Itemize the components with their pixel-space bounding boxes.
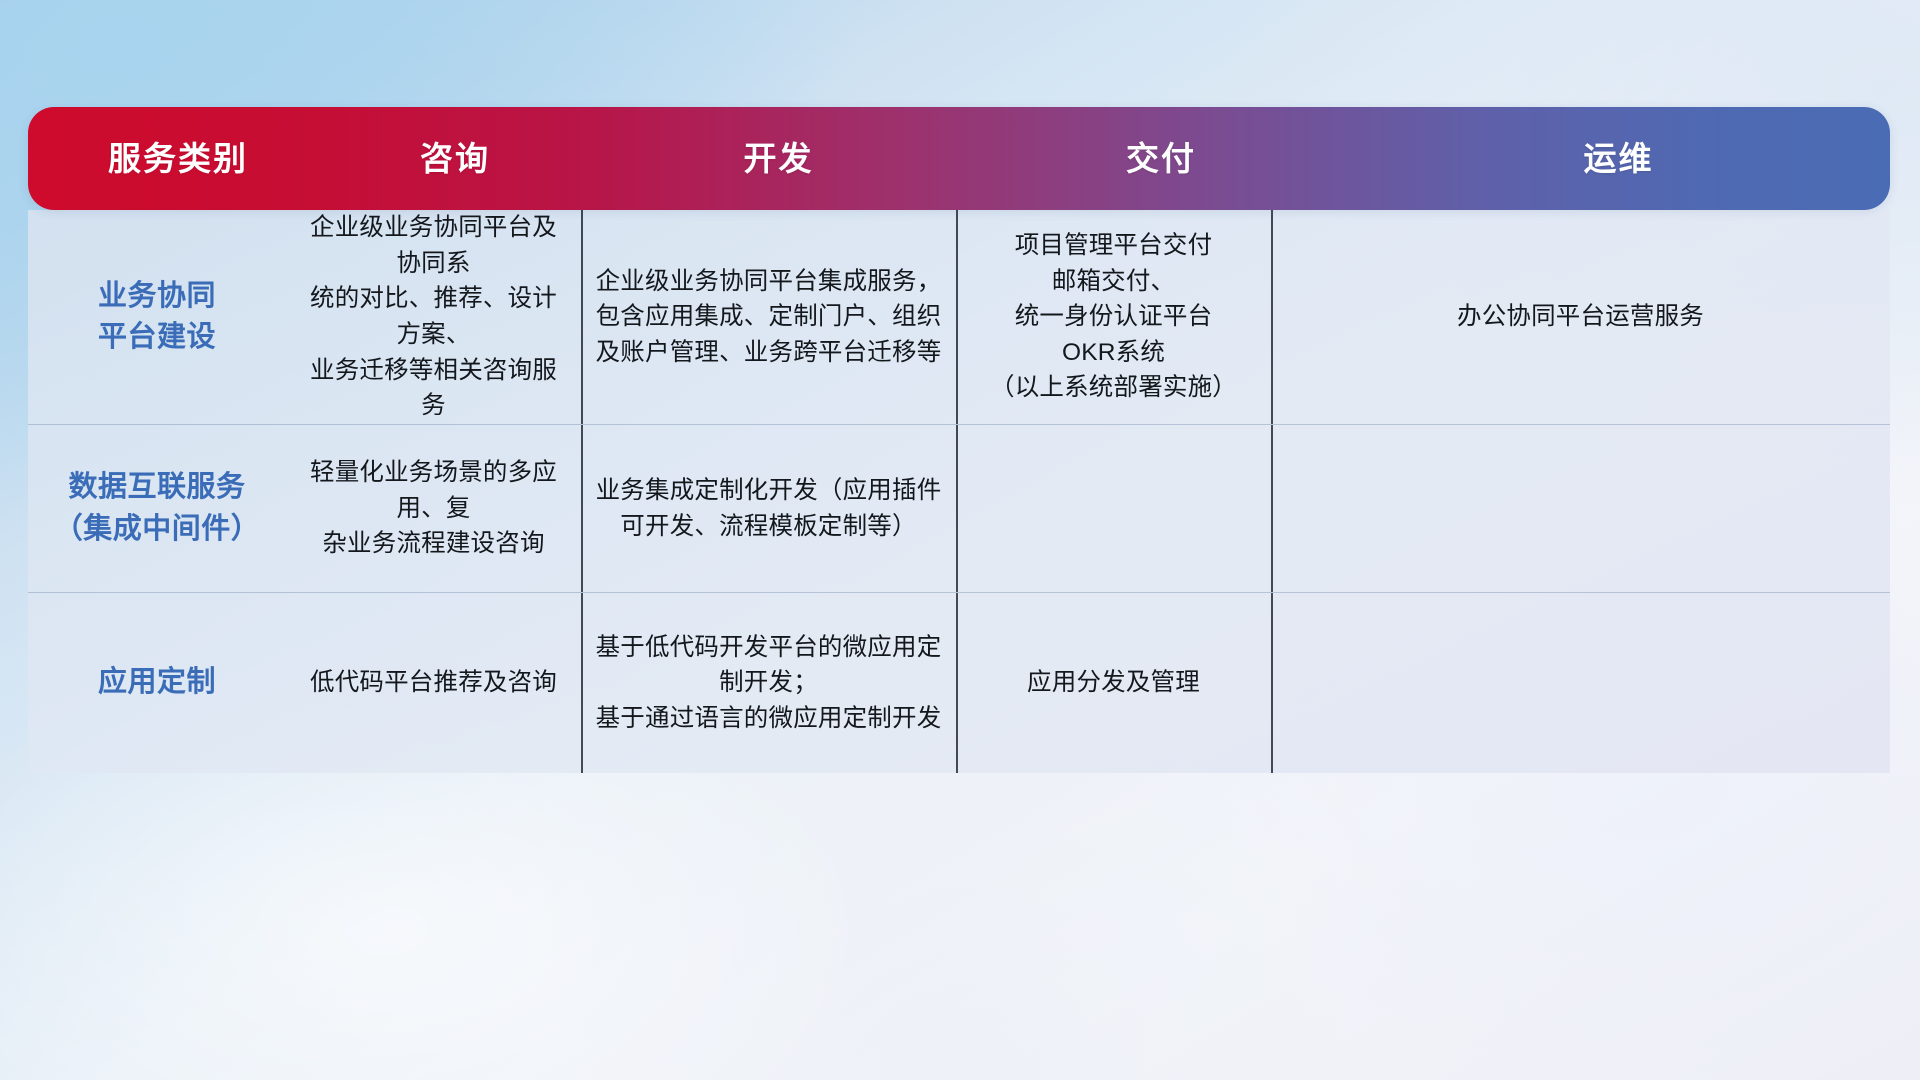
- table-row: 业务协同 平台建设 企业级业务协同平台及协同系 统的对比、推荐、设计方案、 业务…: [28, 210, 1890, 425]
- table-row: 数据互联服务 （集成中间件） 轻量化业务场景的多应用、复 杂业务流程建设咨询 业…: [28, 425, 1890, 593]
- column-header-category: 服务类别: [28, 142, 328, 175]
- row-label-cell: 数据互联服务 （集成中间件）: [28, 425, 286, 592]
- cell-text: 低代码平台推荐及咨询: [310, 665, 557, 701]
- column-header-operations: 运维: [1347, 142, 1890, 175]
- column-header-consulting: 咨询: [328, 142, 582, 175]
- cell-text: 轻量化业务场景的多应用、复 杂业务流程建设咨询: [300, 455, 567, 562]
- cell-text: 项目管理平台交付 邮箱交付、 统一身份认证平台 OKR系统 （以上系统部署实施）: [990, 228, 1237, 406]
- table-row: 应用定制 低代码平台推荐及咨询 基于低代码开发平台的微应用定 制开发； 基于通过…: [28, 593, 1890, 773]
- row-label-text: 应用定制: [98, 662, 216, 703]
- row-label-text: 业务协同 平台建设: [98, 276, 216, 358]
- cell-development: 业务集成定制化开发（应用插件 可开发、流程模板定制等）: [581, 425, 956, 592]
- cell-consulting: 轻量化业务场景的多应用、复 杂业务流程建设咨询: [286, 425, 581, 592]
- cell-operations: [1271, 593, 1890, 773]
- cell-text: 基于低代码开发平台的微应用定 制开发； 基于通过语言的微应用定制开发: [596, 630, 942, 737]
- table-header-row: 服务类别 咨询 开发 交付 运维: [28, 107, 1890, 210]
- column-header-development: 开发: [582, 142, 975, 175]
- service-matrix-table: 服务类别 咨询 开发 交付 运维 业务协同 平台建设 企业级业务协同平台及协同系…: [28, 107, 1890, 773]
- cell-development: 基于低代码开发平台的微应用定 制开发； 基于通过语言的微应用定制开发: [581, 593, 956, 773]
- cell-delivery: 应用分发及管理: [956, 593, 1271, 773]
- cell-text: 企业级业务协同平台集成服务， 包含应用集成、定制门户、组织 及账户管理、业务跨平…: [596, 264, 942, 371]
- row-label-cell: 应用定制: [28, 593, 286, 773]
- cell-consulting: 企业级业务协同平台及协同系 统的对比、推荐、设计方案、 业务迁移等相关咨询服务: [286, 210, 581, 424]
- row-label-cell: 业务协同 平台建设: [28, 210, 286, 424]
- table-body: 业务协同 平台建设 企业级业务协同平台及协同系 统的对比、推荐、设计方案、 业务…: [28, 210, 1890, 773]
- row-label-text: 数据互联服务 （集成中间件）: [54, 467, 261, 549]
- cell-operations: 办公协同平台运营服务: [1271, 210, 1890, 424]
- cell-delivery: [956, 425, 1271, 592]
- cell-delivery: 项目管理平台交付 邮箱交付、 统一身份认证平台 OKR系统 （以上系统部署实施）: [956, 210, 1271, 424]
- column-header-delivery: 交付: [975, 142, 1347, 175]
- cell-operations: [1271, 425, 1890, 592]
- cell-text: 企业级业务协同平台及协同系 统的对比、推荐、设计方案、 业务迁移等相关咨询服务: [300, 210, 567, 423]
- cell-consulting: 低代码平台推荐及咨询: [286, 593, 581, 773]
- cell-text: 业务集成定制化开发（应用插件 可开发、流程模板定制等）: [596, 473, 942, 544]
- cell-development: 企业级业务协同平台集成服务， 包含应用集成、定制门户、组织 及账户管理、业务跨平…: [581, 210, 956, 424]
- cell-text: 办公协同平台运营服务: [1457, 299, 1704, 335]
- cell-text: 应用分发及管理: [1027, 665, 1200, 701]
